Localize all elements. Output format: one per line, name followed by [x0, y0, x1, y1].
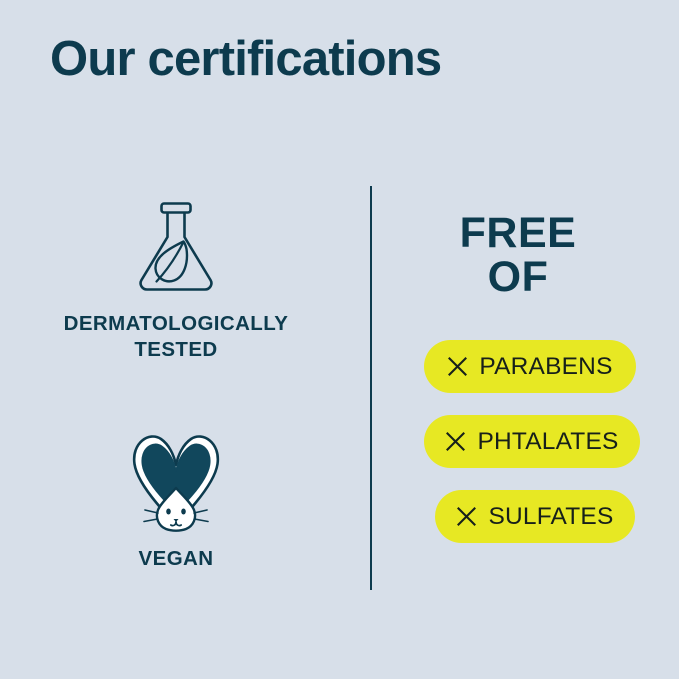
- free-of-heading: FREE OF: [392, 211, 644, 300]
- free-of-column: FREE OF PARABENS PHTALATES: [392, 185, 679, 590]
- free-of-item-parabens: PARABENS: [424, 340, 636, 393]
- free-of-list: PARABENS PHTALATES SULFATES: [392, 340, 654, 565]
- x-icon: [445, 431, 466, 452]
- page-title: Our certifications: [50, 33, 441, 87]
- certification-label: DERMATOLOGICALLY TESTED: [0, 311, 352, 362]
- free-of-item-label: PHTALATES: [477, 428, 618, 456]
- flask-leaf-icon: [0, 197, 352, 297]
- free-of-heading-line2: OF: [488, 253, 549, 301]
- x-icon: [447, 356, 468, 377]
- certification-label-line2: TESTED: [134, 338, 217, 361]
- free-of-item-label: SULFATES: [488, 503, 613, 531]
- bunny-heart-ears-icon: [0, 428, 352, 534]
- certification-label-line1: DERMATOLOGICALLY: [64, 312, 289, 335]
- vertical-divider: [370, 186, 372, 590]
- free-of-item-label: PARABENS: [479, 353, 612, 381]
- certification-dermatologically-tested: DERMATOLOGICALLY TESTED: [0, 197, 352, 362]
- certifications-panel: Our certifications DERMATOLOGICALLY TEST…: [0, 0, 679, 679]
- free-of-item-phtalates: PHTALATES: [424, 415, 640, 468]
- certifications-column: DERMATOLOGICALLY TESTED: [0, 185, 352, 590]
- free-of-heading-line1: FREE: [460, 209, 577, 257]
- certification-label: VEGAN: [0, 546, 352, 572]
- free-of-item-sulfates: SULFATES: [435, 490, 635, 543]
- certification-vegan: VEGAN: [0, 428, 352, 572]
- x-icon: [456, 506, 477, 527]
